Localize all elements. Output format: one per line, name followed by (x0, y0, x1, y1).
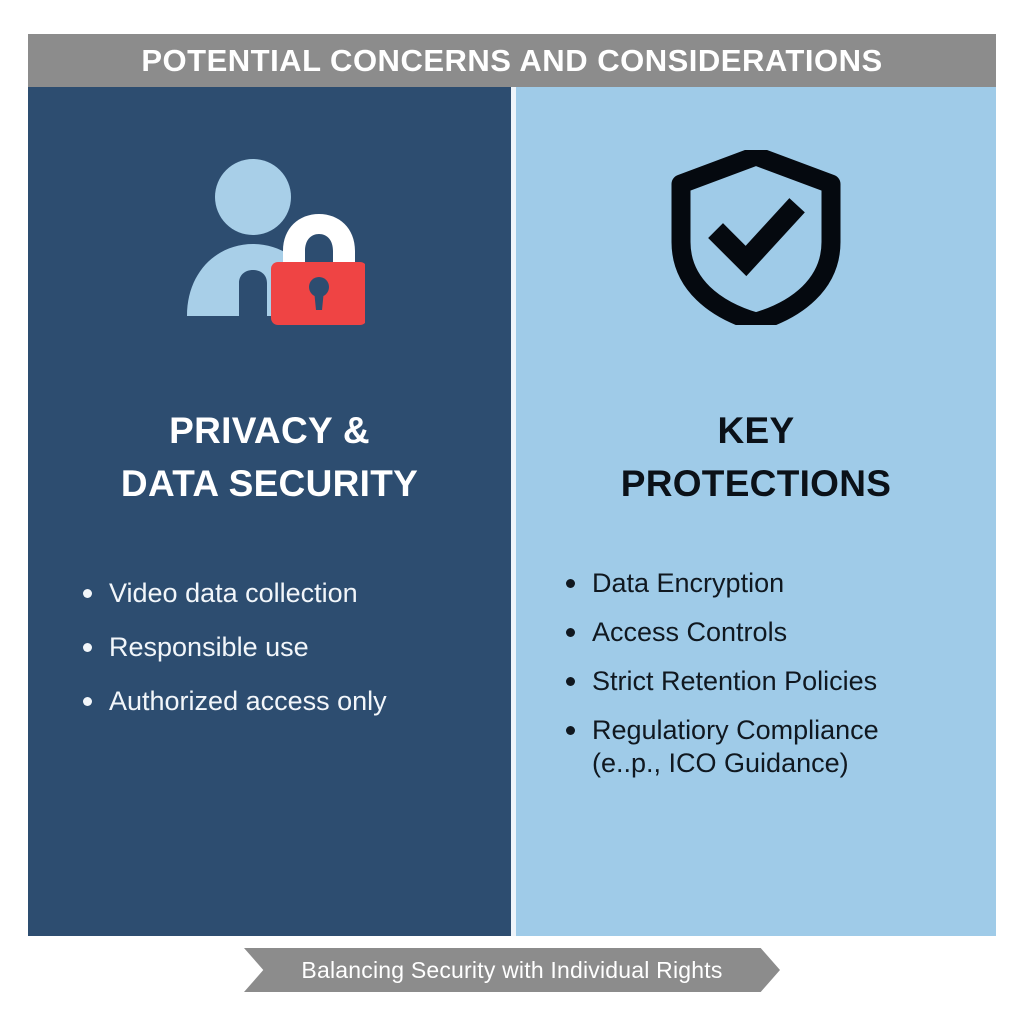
panel-right-heading-line1: KEY (718, 410, 795, 451)
panel-right-bullet-list: Data Encryption Access Controls Strict R… (516, 567, 1024, 796)
list-item-label: Access Controls (592, 616, 1024, 649)
list-item: Access Controls (566, 616, 1024, 649)
panel-right-heading: KEY PROTECTIONS (516, 405, 996, 510)
panel-left-heading-line1: PRIVACY & (169, 410, 370, 451)
list-item: Strict Retention Policies (566, 665, 1024, 698)
page-title: POTENTIAL CONCERNS AND CONSIDERATIONS (141, 43, 882, 79)
panel-left-bullet-list: Video data collection Responsible use Au… (28, 577, 566, 739)
list-item-label-group: Regulatiory Compliance (e..p., ICO Guida… (592, 714, 1024, 780)
infographic-canvas: POTENTIAL CONCERNS AND CONSIDERATIONS (0, 0, 1024, 1024)
list-item: Regulatiory Compliance (e..p., ICO Guida… (566, 714, 1024, 780)
panel-key-protections: KEY PROTECTIONS Data Encryption Access C… (516, 87, 996, 936)
bullet-dot-icon (83, 697, 92, 706)
list-item-label: Responsible use (109, 631, 566, 664)
list-item-label: Strict Retention Policies (592, 665, 1024, 698)
header-banner: POTENTIAL CONCERNS AND CONSIDERATIONS (28, 34, 996, 87)
bullet-dot-icon (83, 643, 92, 652)
bullet-dot-icon (566, 677, 575, 686)
bullet-dot-icon (566, 726, 575, 735)
list-item-label: Regulatiory Compliance (592, 715, 879, 745)
panel-right-heading-line2: PROTECTIONS (621, 463, 892, 504)
bullet-dot-icon (566, 579, 575, 588)
person-lock-icon (28, 87, 511, 387)
panel-left-heading-line2: DATA SECURITY (121, 463, 418, 504)
list-item-sublabel: (e..p., ICO Guidance) (592, 747, 1024, 780)
footer-ribbon: Balancing Security with Individual Right… (244, 948, 780, 992)
list-item: Authorized access only (83, 685, 566, 718)
list-item-label: Data Encryption (592, 567, 1024, 600)
footer-ribbon-label: Balancing Security with Individual Right… (301, 957, 722, 984)
list-item-label: Video data collection (109, 577, 566, 610)
bullet-dot-icon (83, 589, 92, 598)
panels-container: PRIVACY & DATA SECURITY Video data colle… (28, 87, 996, 936)
list-item: Data Encryption (566, 567, 1024, 600)
list-item-label: Authorized access only (109, 685, 566, 718)
list-item: Video data collection (83, 577, 566, 610)
shield-check-icon (516, 87, 996, 387)
bullet-dot-icon (566, 628, 575, 637)
panel-left-heading: PRIVACY & DATA SECURITY (28, 405, 511, 510)
panel-privacy-data-security: PRIVACY & DATA SECURITY Video data colle… (28, 87, 511, 936)
list-item: Responsible use (83, 631, 566, 664)
